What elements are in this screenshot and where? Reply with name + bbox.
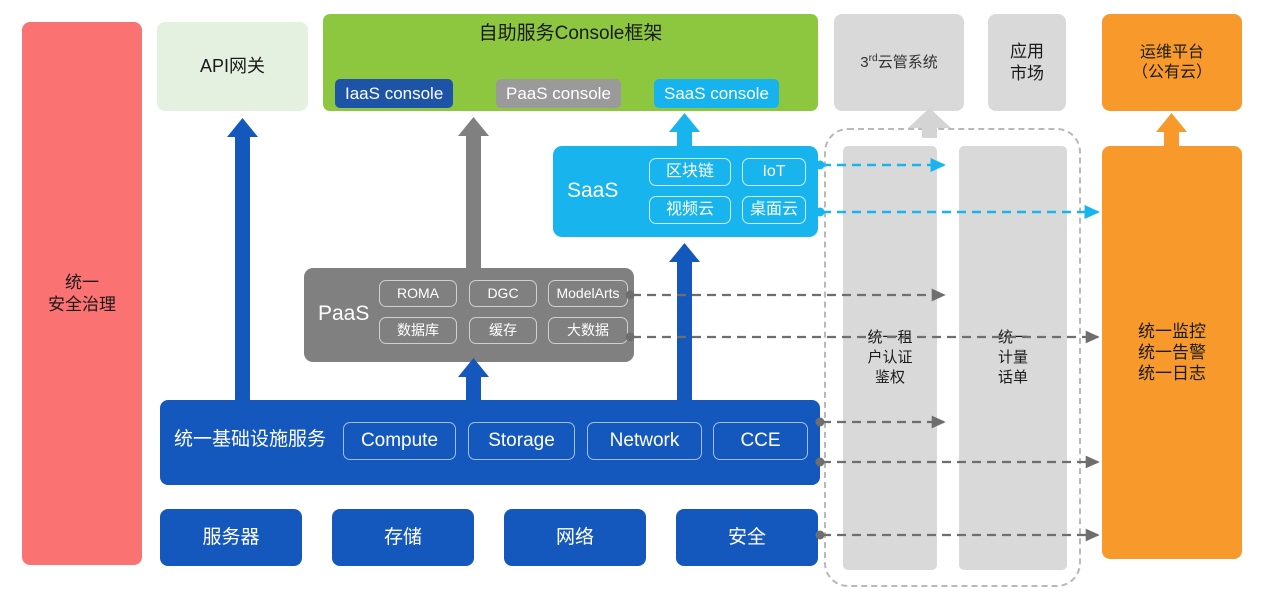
app-market-label: 应用 市场 [1010,41,1044,84]
paas-chip-modelarts[interactable]: ModelArts [548,280,628,307]
ops-platform-label: 运维平台 （公有云） [1132,43,1212,83]
architecture-diagram: 统一 安全治理 API网关 自助服务Console框架 IaaS console… [0,0,1265,605]
paas-block[interactable]: PaaS ROMA DGC ModelArts 数据库 缓存 大数据 [304,268,634,362]
paas-chip-bigdata[interactable]: 大数据 [548,317,628,344]
resource-label-server: 服务器 [202,526,259,550]
paas-chip-dgc[interactable]: DGC [469,280,537,307]
arrow-ops-column-to-ops-platform [1156,113,1187,150]
saas-console-chip[interactable]: SaaS console [654,79,779,108]
infra-chip-network[interactable]: Network [587,422,702,460]
resource-label-network: 网络 [556,526,594,550]
unified-security-governance-column[interactable]: 统一 安全治理 [22,22,142,565]
api-gateway-box[interactable]: API网关 [157,22,308,111]
arrow-infra-to-paas [458,358,489,405]
self-service-console-framework[interactable]: 自助服务Console框架 IaaS console PaaS console … [323,14,818,111]
arrow-infra-to-saas [669,243,700,404]
saas-chip-iot[interactable]: IoT [742,158,806,186]
paas-chip-database[interactable]: 数据库 [379,317,457,344]
arrow-infra-to-api-gateway [227,118,258,403]
governance-label: 统一 安全治理 [48,272,116,315]
saas-block[interactable]: SaaS 区块链 IoT 视频云 桌面云 [553,146,818,237]
app-market-box[interactable]: 应用 市场 [988,14,1066,111]
third-party-superscript: rd [869,53,878,64]
infra-chip-cce[interactable]: CCE [713,422,808,460]
api-gateway-label: API网关 [200,55,265,78]
paas-console-chip[interactable]: PaaS console [496,79,621,108]
resource-box-server[interactable]: 服务器 [160,509,302,566]
resource-box-storage[interactable]: 存储 [332,509,474,566]
resource-label-storage: 存储 [384,526,422,550]
shared-service-label-metering-billing: 统一 计量 话单 [998,328,1028,389]
infrastructure-label: 统一基础设施服务 [174,428,326,452]
shared-service-column-metering-billing[interactable]: 统一 计量 话单 [959,146,1067,570]
shared-service-label-tenant-auth: 统一租 户认证 鉴权 [867,328,912,389]
saas-chip-desktop-cloud[interactable]: 桌面云 [742,196,806,224]
resource-box-network[interactable]: 网络 [504,509,646,566]
paas-chip-cache[interactable]: 缓存 [469,317,537,344]
ops-platform-public-cloud-box[interactable]: 运维平台 （公有云） [1102,14,1242,111]
arrow-saas-to-saas-console [669,113,700,150]
saas-chip-blockchain[interactable]: 区块链 [649,158,731,186]
console-framework-title: 自助服务Console框架 [323,22,818,46]
unified-infrastructure-service-bar[interactable]: 统一基础设施服务 Compute Storage Network CCE [160,400,820,485]
third-party-cloud-mgmt-box[interactable]: 3rd云管系统 [834,14,964,111]
unified-monitoring-column[interactable]: 统一监控 统一告警 统一日志 [1102,146,1242,559]
third-party-label: 3rd云管系统 [860,53,937,73]
infra-chip-storage[interactable]: Storage [468,422,575,460]
shared-service-column-tenant-auth[interactable]: 统一租 户认证 鉴权 [843,146,937,570]
infra-chip-compute[interactable]: Compute [343,422,456,460]
saas-chip-video-cloud[interactable]: 视频云 [649,196,731,224]
saas-label: SaaS [567,178,618,204]
arrow-paas-to-console [458,117,489,272]
paas-chip-roma[interactable]: ROMA [379,280,457,307]
paas-label: PaaS [318,301,369,327]
resource-box-security[interactable]: 安全 [676,509,818,566]
resource-label-security: 安全 [728,526,766,550]
iaas-console-chip[interactable]: IaaS console [335,79,453,108]
unified-monitoring-label: 统一监控 统一告警 统一日志 [1138,321,1206,385]
